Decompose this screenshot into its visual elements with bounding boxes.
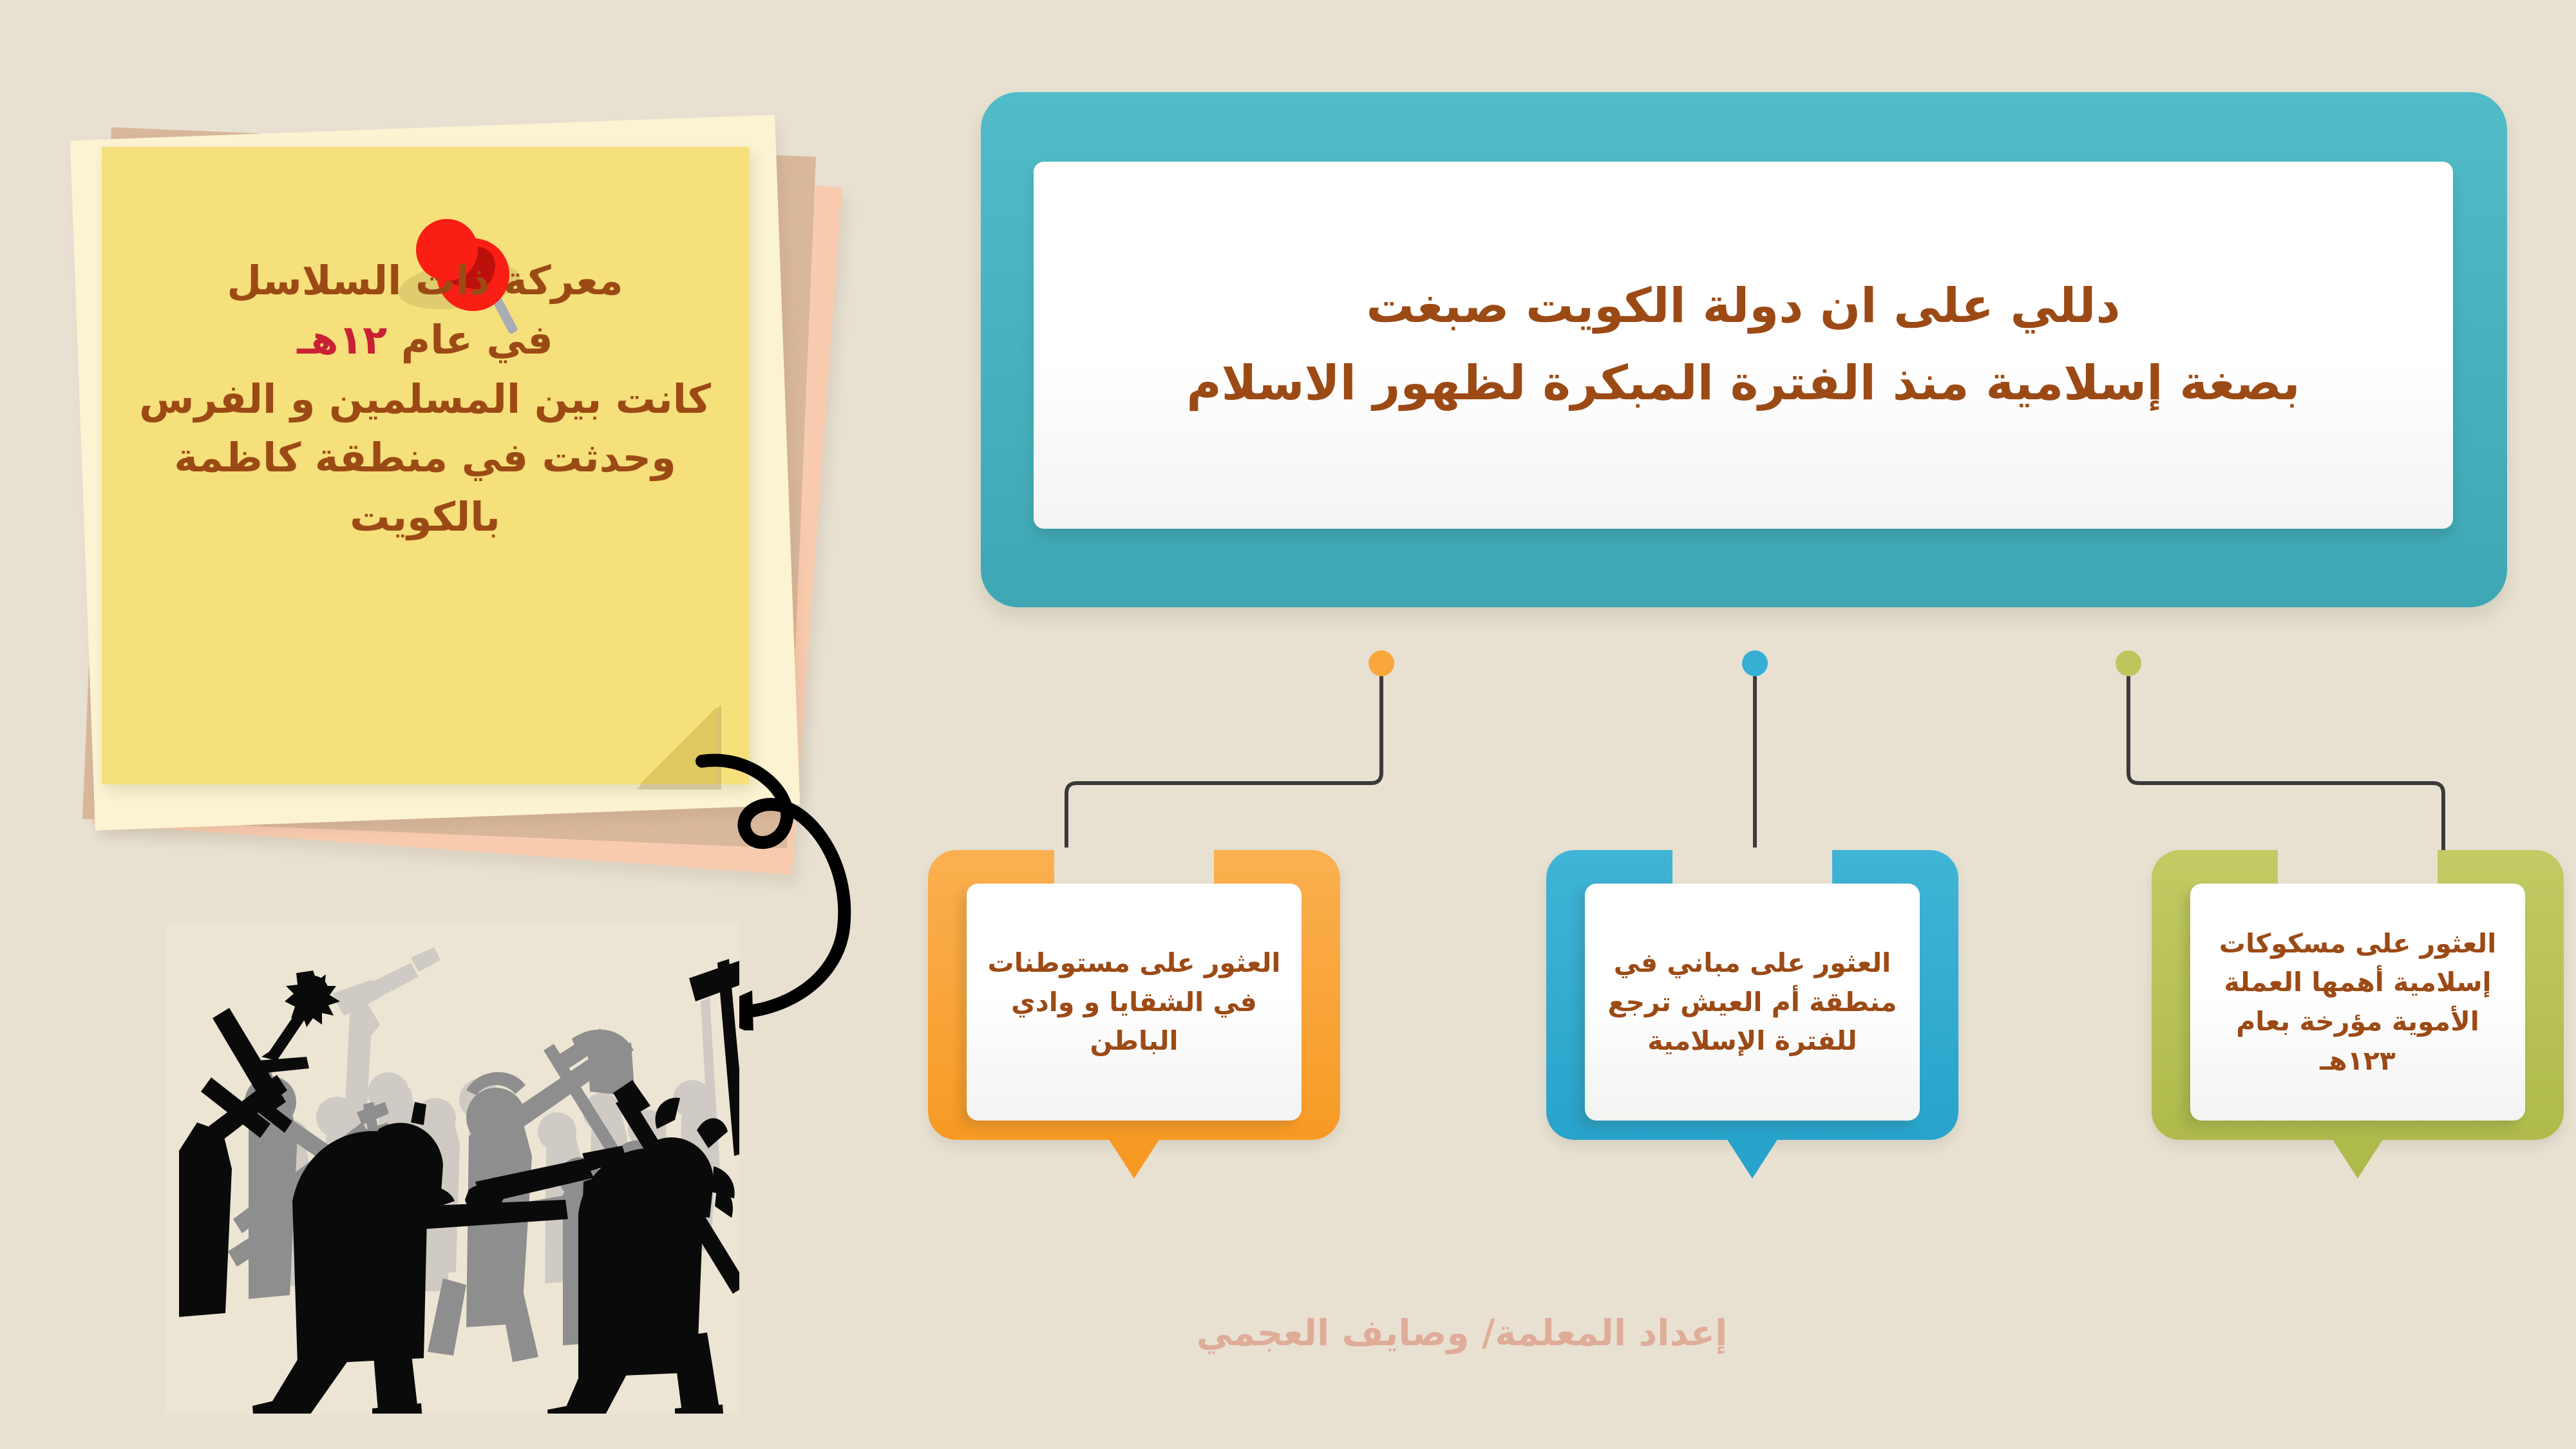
card-text-orange: العثور على مستوطنات في الشقايا و وادي ال… — [977, 943, 1291, 1061]
card-tail-orange — [1108, 1139, 1160, 1179]
header-line-2: بصغة إسلامية منذ الفترة المبكرة لظهور ال… — [1034, 345, 2453, 422]
connector-path-orange — [1066, 676, 1381, 876]
fact-card-blue[interactable]: العثور على مباني في منطقة أم العيش ترجع … — [1546, 850, 1958, 1185]
battle-warriors-silhouette — [166, 924, 739, 1414]
card-inner-green: العثور على مسكوكات إسلامية أهمها العملة … — [2190, 884, 2525, 1121]
note-line-2-prefix: في عام — [387, 316, 553, 363]
card-inner-orange: العثور على مستوطنات في الشقايا و وادي ال… — [967, 884, 1302, 1121]
header-question-card: دللي على ان دولة الكويت صبغت بصغة إسلامي… — [981, 92, 2507, 607]
note-hijri-year: ١٢هـ — [297, 316, 387, 363]
card-tail-blue — [1727, 1139, 1778, 1179]
fact-card-green[interactable]: العثور على مسكوكات إسلامية أهمها العملة … — [2152, 850, 2564, 1185]
header-inner-panel: دللي على ان دولة الكويت صبغت بصغة إسلامي… — [1034, 162, 2453, 529]
connector-dot-orange — [1368, 650, 1394, 676]
header-question-text: دللي على ان دولة الكويت صبغت بصغة إسلامي… — [1034, 268, 2453, 422]
card-text-blue: العثور على مباني في منطقة أم العيش ترجع … — [1595, 943, 1909, 1061]
fact-card-orange[interactable]: العثور على مستوطنات في الشقايا و وادي ال… — [928, 850, 1340, 1185]
connector-dot-blue — [1742, 650, 1768, 676]
header-line-1: دللي على ان دولة الكويت صبغت — [1034, 268, 2453, 345]
note-line-4: وحدثت في منطقة كاظمة بالكويت — [109, 428, 741, 547]
note-line-2: في عام ١٢هـ — [109, 310, 741, 370]
note-line-3: كانت بين المسلمين و الفرس — [109, 370, 741, 429]
note-line-1: معركة ذات السلاسل — [109, 251, 741, 310]
footer-credit: إعداد المعلمة/ وصايف العجمي — [1095, 1312, 1829, 1354]
card-tail-green — [2332, 1139, 2383, 1179]
slide-canvas: معركة ذات السلاسل في عام ١٢هـ كانت بين ا… — [0, 0, 2576, 1449]
connector-path-green — [2128, 676, 2443, 876]
sticky-note-text: معركة ذات السلاسل في عام ١٢هـ كانت بين ا… — [109, 251, 741, 547]
connector-dot-group — [1030, 650, 2479, 689]
connector-dot-green — [2116, 650, 2141, 676]
card-text-green: العثور على مسكوكات إسلامية أهمها العملة … — [2201, 924, 2515, 1081]
card-inner-blue: العثور على مباني في منطقة أم العيش ترجع … — [1585, 884, 1920, 1121]
